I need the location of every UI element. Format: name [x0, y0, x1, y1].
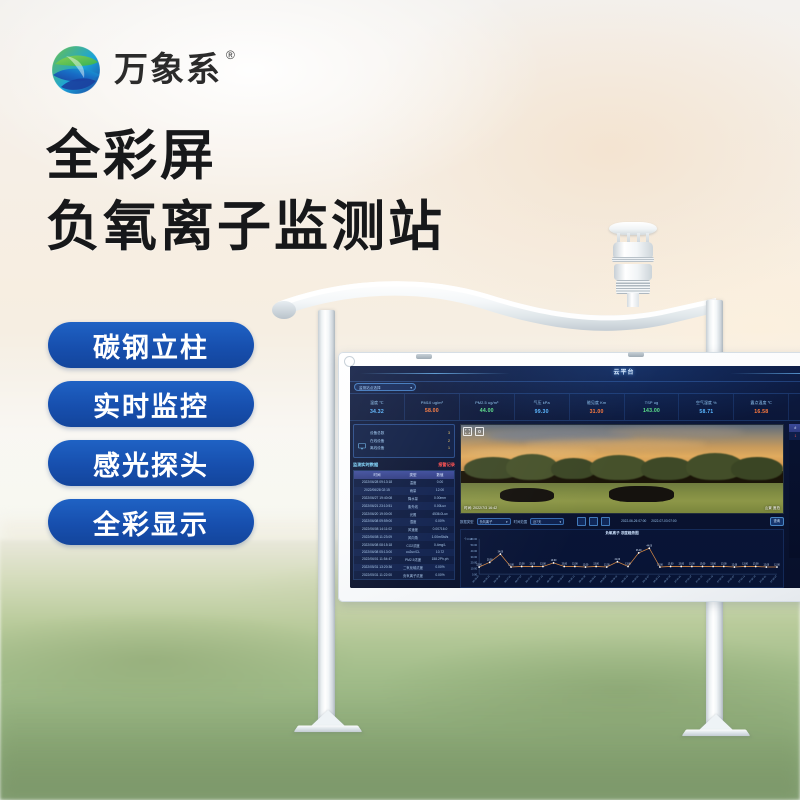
svg-text:06-28 13: 06-28 13	[568, 575, 576, 583]
cell-type: PM2.5浓度	[400, 556, 426, 564]
alarm-empty-area	[789, 440, 800, 558]
svg-text:06-29 19: 06-29 19	[621, 575, 629, 583]
metric-card: 露点温度 ℃ 16.58	[734, 394, 789, 420]
station-select[interactable]: 监测站点选择 ▾	[354, 383, 416, 391]
table-row[interactable]: 2022/06/08 11:23:09风向角1.00mStd/s	[354, 533, 454, 541]
svg-text:50.00: 50.00	[471, 543, 478, 547]
monitoring-station-product: 云平台 监测站点选择 ▾ WXXSKY7788.cn.com 退出	[0, 0, 800, 800]
alarm-table-header: # 报警时间 报警内容	[789, 424, 800, 432]
product-marketing-image: 万象系 ® 全彩屏 负氧离子监测站 碳钢立柱 实时监控 感光探头 全彩显示	[0, 0, 800, 800]
alarm-row[interactable]: 1 2022-07-03 12:14 负氧离子浓度 低于设定阈值 报警	[789, 432, 800, 440]
metric-value: 99.30	[515, 409, 569, 415]
svg-text:13.00: 13.00	[519, 563, 525, 565]
cell-type: 紫外线	[400, 502, 426, 510]
records-table: 时间 类型 数值 2022/06/28 09:13:18温度0.00 2022/…	[353, 470, 455, 580]
metric-value: 58.00	[405, 408, 459, 414]
metric-value: 58.71	[679, 409, 733, 415]
svg-text:30.00: 30.00	[471, 554, 478, 558]
data-type-label: 数据类型	[460, 519, 474, 524]
svg-text:13.00: 13.00	[710, 563, 716, 565]
cell-type: 负氧离子浓度	[400, 571, 426, 579]
svg-text:07-02 19: 07-02 19	[749, 575, 757, 583]
svg-text:07-01 19: 07-01 19	[707, 575, 715, 583]
metric-label: 噪声 db	[789, 400, 800, 406]
cell-time: 2022/05/31 11:22:00	[354, 571, 400, 579]
ultrasonic-weather-sensor	[604, 222, 662, 304]
metric-label: 气压 kPa	[515, 400, 569, 406]
stat-label: 离线设备	[370, 446, 384, 451]
svg-text:06-29 13: 06-29 13	[611, 575, 619, 583]
svg-text:13.00: 13.00	[678, 563, 684, 565]
dashboard-right-panel: # 报警时间 报警内容 1 2022-07-03 12:14 负氧离子浓度 低于…	[786, 421, 800, 588]
cell-time: 2022/06/20 19:00:00	[354, 510, 400, 518]
svg-text:07-02 07: 07-02 07	[728, 575, 736, 583]
cell-type: co2uv/CL	[400, 549, 426, 556]
svg-text:07-01 01: 07-01 01	[675, 575, 683, 583]
sensor-stem	[627, 293, 639, 307]
cell-time: 2022/06/28 09:13:18	[354, 479, 400, 487]
svg-text:06-27 13: 06-27 13	[526, 575, 534, 583]
dashboard-toolbar: 监测站点选择 ▾ WXXSKY7788.cn.com 退出	[350, 382, 800, 393]
svg-text:13.00: 13.00	[700, 563, 706, 565]
cell-type: 湿度	[400, 518, 426, 526]
metric-value: 143.00	[625, 408, 679, 414]
alarm-index: 1	[789, 432, 800, 440]
cell-value: 0.00mm	[426, 495, 454, 503]
svg-text:10.00: 10.00	[471, 566, 478, 570]
cell-value: 1.00mStd/s	[426, 533, 454, 541]
metric-card: TSP ug 143.00	[625, 394, 680, 420]
cell-value: 158.2Ph.ph	[426, 556, 454, 564]
svg-text:12.00: 12.00	[774, 564, 780, 566]
table-icon[interactable]	[601, 517, 610, 526]
cell-value: 4536.0Lux	[426, 510, 454, 518]
svg-text:13.00: 13.00	[668, 563, 674, 565]
metric-label: 能见度 Km	[570, 400, 624, 406]
table-row[interactable]: 2022/05/31 13:20:36二氧化硫浓度0.00%	[354, 564, 454, 572]
stat-row: 设备总数 3	[370, 431, 450, 436]
metric-label: 露点温度 ℃	[734, 400, 788, 406]
svg-text:12.00: 12.00	[604, 564, 610, 566]
stat-label: 设备总数	[370, 431, 384, 436]
svg-text:19.00: 19.00	[551, 560, 557, 562]
svg-text:12.00: 12.00	[583, 564, 589, 566]
table-row[interactable]: 2022/06/08 05:13:00co2uv/CL10.72	[354, 549, 454, 556]
mount-tab-2	[628, 352, 644, 357]
svg-text:13.00: 13.00	[530, 563, 536, 565]
alarm-records-link[interactable]: 报警记录	[438, 462, 455, 468]
metric-value: 44.00	[460, 408, 514, 414]
svg-text:06-27 19: 06-27 19	[536, 575, 544, 583]
svg-text:20.00: 20.00	[487, 559, 493, 561]
svg-text:12.00: 12.00	[657, 564, 663, 566]
records-heading: 监测实时数据	[353, 462, 378, 468]
live-video-feed[interactable]: 时间: 2022/7/3 16:42 山景 遥拍	[460, 424, 784, 514]
cell-type: 二氧化硫浓度	[400, 564, 426, 572]
base-plate-right	[684, 716, 748, 738]
cell-time: 2022/06/28 02:15	[354, 487, 400, 495]
table-row[interactable]: 2022/05/31 11:22:00负氧离子浓度0.00%	[354, 571, 454, 579]
line-chart-icon[interactable]	[589, 517, 598, 526]
video-subject-cow-right	[609, 486, 673, 502]
metric-card: 温度 ℃ 34.32	[350, 394, 405, 420]
time-range-value: 近7天	[533, 520, 541, 524]
svg-text:13.00: 13.00	[540, 563, 546, 565]
svg-text:12.00: 12.00	[508, 564, 514, 566]
svg-text:06-28 07: 06-28 07	[558, 575, 566, 583]
cell-value: 0.00%	[426, 564, 454, 572]
svg-text:07-03 07: 07-03 07	[770, 575, 778, 583]
cell-value: 0.00%	[426, 518, 454, 526]
svg-text:06-27 07: 06-27 07	[515, 575, 523, 583]
query-button[interactable]: 查询	[770, 517, 784, 526]
cell-time: 2022/06/01 11:54:47	[354, 556, 400, 564]
svg-text:13.00: 13.00	[572, 563, 578, 565]
sensor-radiation-fins	[616, 280, 650, 294]
cell-time: 2022/06/21 23:10:51	[354, 502, 400, 510]
stat-row: 离线设备 1	[370, 446, 450, 451]
video-scene	[461, 425, 783, 513]
cell-time: 2022/06/08 11:23:09	[354, 533, 400, 541]
table-row[interactable]: 2022/06/20 19:00:00光照4536.0Lux	[354, 510, 454, 518]
dashboard-title: 云平台	[350, 367, 800, 376]
date-end-input[interactable]: 2022-07-03 07:00	[651, 519, 676, 523]
cell-type: 温度	[400, 479, 426, 487]
video-watermark: 山景 遥拍	[765, 506, 780, 511]
table-row[interactable]: 2022/06/21 23:10:51紫外线0.00Lux	[354, 502, 454, 510]
cell-type: 风速度	[400, 526, 426, 534]
svg-text:06-30 07: 06-30 07	[643, 575, 651, 583]
metric-label: 温度 ℃	[350, 400, 404, 406]
cell-value: 10.72	[426, 549, 454, 556]
trend-chart: 负氧离子 浓度趋势图 个/cm³ 0.0010.0020.0030.0040.0…	[460, 529, 784, 588]
metric-card: 空气湿度 % 58.71	[679, 394, 734, 420]
svg-text:06-28 01: 06-28 01	[547, 575, 555, 583]
svg-text:44.00: 44.00	[647, 545, 653, 547]
svg-text:0.00: 0.00	[472, 572, 478, 576]
cell-type: CO2浓度	[400, 541, 426, 549]
metric-card: 噪声 db 48.90	[789, 394, 800, 420]
bar-chart-icon[interactable]	[577, 517, 586, 526]
metric-label: TSP ug	[625, 400, 679, 405]
svg-text:07-01 13: 07-01 13	[696, 575, 704, 583]
svg-text:40.00: 40.00	[471, 548, 478, 552]
video-timestamp: 时间: 2022/7/3 16:42	[464, 506, 497, 511]
device-stats-box: 设备总数 3 在线设备 2 离线设备 1	[353, 424, 455, 458]
metric-value: 16.58	[734, 409, 788, 415]
metric-label: 空气湿度 %	[679, 400, 733, 406]
data-type-select[interactable]: 负氧离子 ▾	[477, 518, 511, 525]
svg-text:07-01 07: 07-01 07	[685, 575, 693, 583]
cell-time: 2022/06/08 08:15:18	[354, 541, 400, 549]
svg-text:12.00: 12.00	[732, 564, 738, 566]
data-type-value: 负氧离子	[480, 520, 493, 524]
chart-canvas: 0.0010.0020.0030.0040.0050.0060.0012.000…	[461, 530, 783, 587]
cell-time: 2022/06/08 05:13:00	[354, 549, 400, 556]
svg-text:13.00: 13.00	[593, 563, 599, 565]
fullscreen-icon[interactable]	[463, 427, 472, 436]
cell-value: 12.00	[426, 487, 454, 495]
mount-tab-1	[416, 354, 432, 359]
table-row[interactable]: 2022/06/27 19:40:08降水量0.00mm	[354, 495, 454, 503]
sensor-lower-body	[614, 264, 652, 280]
stat-row: 在线设备 2	[370, 439, 450, 444]
table-row[interactable]: 2022/06/01 11:54:47PM2.5浓度158.2Ph.ph	[354, 556, 454, 564]
svg-text:12.00: 12.00	[764, 564, 770, 566]
svg-text:06-26 19: 06-26 19	[494, 575, 502, 583]
svg-text:06-30 13: 06-30 13	[653, 575, 661, 583]
svg-text:21.00: 21.00	[615, 559, 621, 561]
stat-value: 2	[448, 439, 450, 444]
svg-text:06-28 19: 06-28 19	[579, 575, 587, 583]
cell-value: 0.4mg/L	[426, 541, 454, 549]
display-cabinet: 云平台 监测站点选择 ▾ WXXSKY7788.cn.com 退出	[338, 352, 800, 604]
carbon-steel-pole-left	[318, 310, 335, 730]
dashboard-center-panel: 时间: 2022/7/3 16:42 山景 遥拍 数据类型 负氧离子 ▾ 时间范…	[458, 421, 786, 588]
metric-value: 31.00	[570, 409, 624, 415]
table-row[interactable]: 2022/06/28 09:13:18温度0.00	[354, 479, 454, 487]
sensor-upper-body	[613, 242, 653, 258]
svg-text:06-29 07: 06-29 07	[600, 575, 608, 583]
chart-controls: 数据类型 负氧离子 ▾ 时间范围 近7天 ▾	[460, 517, 784, 526]
svg-text:13.00: 13.00	[689, 563, 695, 565]
cell-type: 降水量	[400, 495, 426, 503]
svg-text:12.00: 12.00	[476, 564, 482, 566]
dashboard-body: 设备总数 3 在线设备 2 离线设备 1	[350, 421, 800, 588]
table-header-row: 时间 类型 数值	[354, 471, 454, 479]
cell-value: 0.00716.0	[426, 526, 454, 534]
svg-text:13.00: 13.00	[561, 563, 567, 565]
svg-text:07-02 13: 07-02 13	[739, 575, 747, 583]
cloud-platform-dashboard: 云平台 监测站点选择 ▾ WXXSKY7788.cn.com 退出	[350, 366, 800, 588]
cell-time: 2022/06/27 19:40:08	[354, 495, 400, 503]
cell-value: 0.00	[426, 479, 454, 487]
metric-label: PM2.5 ug/m³	[460, 400, 514, 405]
chevron-down-icon: ▾	[410, 384, 412, 392]
column-header-type: 类型	[400, 471, 426, 479]
table-row[interactable]: 2022/06/08 08:15:18CO2浓度0.4mg/L	[354, 541, 454, 549]
alarm-col-index: #	[789, 424, 800, 432]
led-screen: 云平台 监测站点选择 ▾ WXXSKY7788.cn.com 退出	[350, 366, 800, 588]
chart-title: 负氧离子 浓度趋势图	[461, 531, 783, 536]
svg-text:13.00: 13.00	[625, 563, 631, 565]
video-overlay-icons	[463, 427, 484, 436]
svg-text:34.00: 34.00	[498, 551, 504, 553]
cell-time: 2022/06/08 09:59:00	[354, 518, 400, 526]
cell-type: 雨量	[400, 487, 426, 495]
time-range-label: 时间范围	[514, 519, 528, 524]
metric-value: 48.90	[789, 409, 800, 415]
video-subject-cow-left	[500, 488, 555, 502]
metric-card: 能见度 Km 31.00	[570, 394, 625, 420]
cell-value: 0.00Lux	[426, 502, 454, 510]
svg-text:07-02 01: 07-02 01	[717, 575, 725, 583]
chevron-down-icon: ▾	[560, 519, 562, 526]
dashboard-left-panel: 设备总数 3 在线设备 2 离线设备 1	[350, 421, 458, 588]
cell-type: 光照	[400, 510, 426, 518]
svg-text:06-29 01: 06-29 01	[590, 575, 598, 583]
table-row[interactable]: 2022/06/28 02:15雨量12.00	[354, 487, 454, 495]
metric-value: 34.32	[350, 409, 404, 415]
records-header: 监测实时数据 报警记录	[353, 462, 455, 468]
stat-value: 3	[448, 431, 450, 436]
svg-text:13.00: 13.00	[742, 563, 748, 565]
time-range-select[interactable]: 近7天 ▾	[530, 518, 564, 525]
metric-card: PM2.5 ug/m³ 44.00	[460, 394, 515, 420]
chart-ylabel: 个/cm³	[464, 537, 472, 541]
device-status-icon	[358, 437, 366, 445]
column-header-value: 数值	[426, 471, 454, 479]
svg-text:06-30 01: 06-30 01	[632, 575, 640, 583]
column-header-time: 时间	[354, 471, 400, 479]
cell-type: 风向角	[400, 533, 426, 541]
station-select-value: 监测站点选择	[359, 386, 381, 390]
chevron-down-icon: ▾	[506, 519, 508, 526]
metric-strip: 温度 ℃ 34.32 PM10 ug/m³ 58.00 PM2.5 ug/m³ …	[350, 393, 800, 421]
metric-label: PM10 ug/m³	[405, 400, 459, 405]
svg-text:06-30 19: 06-30 19	[664, 575, 672, 583]
base-plate-left	[296, 712, 360, 734]
table-row[interactable]: 2022/06/08 09:59:00湿度0.00%	[354, 518, 454, 526]
svg-text:06-26 13: 06-26 13	[483, 575, 491, 583]
snapshot-icon[interactable]	[475, 427, 484, 436]
table-row[interactable]: 2022/06/08 14:11:02风速度0.00716.0	[354, 526, 454, 534]
svg-text:07-03 01: 07-03 01	[760, 575, 768, 583]
svg-text:36.00: 36.00	[636, 550, 642, 552]
cell-time: 2022/06/08 14:11:02	[354, 526, 400, 534]
svg-text:06-27 01: 06-27 01	[504, 575, 512, 583]
stat-label: 在线设备	[370, 439, 384, 444]
cell-value: 0.00%	[426, 571, 454, 579]
svg-text:13.00: 13.00	[753, 563, 759, 565]
stat-value: 1	[448, 446, 450, 451]
metric-card: PM10 ug/m³ 58.00	[405, 394, 460, 420]
metric-card: 气压 kPa 99.30	[515, 394, 570, 420]
sensor-ring-upper	[612, 257, 654, 262]
dashboard-header: 云平台	[350, 366, 800, 382]
cell-time: 2022/05/31 13:20:36	[354, 564, 400, 572]
date-start-input[interactable]: 2022-06-26 07:00	[621, 519, 646, 523]
svg-text:13.00: 13.00	[721, 563, 727, 565]
